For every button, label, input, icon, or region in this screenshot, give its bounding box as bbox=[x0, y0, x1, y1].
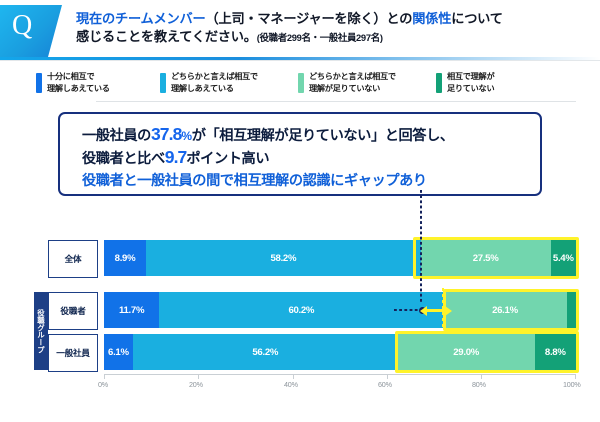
bar-row-staff: 6.1% 56.2% 29.0% 8.8% bbox=[104, 334, 576, 370]
bar-segment-managers-2: 26.1% bbox=[443, 292, 566, 328]
bar-row-overall: 8.9% 58.2% 27.5% 5.4% bbox=[104, 240, 576, 276]
x-axis-line bbox=[104, 374, 576, 375]
x-tick-40 bbox=[293, 374, 294, 379]
x-tick-label-100: 100% bbox=[563, 380, 581, 389]
row-label-staff: 一般社員 bbox=[48, 334, 98, 372]
bar-segment-staff-2: 29.0% bbox=[398, 334, 535, 370]
x-tick-100 bbox=[575, 374, 576, 379]
row-label-overall: 全体 bbox=[48, 240, 98, 278]
annotation-gap-arrow-left-icon bbox=[420, 306, 427, 316]
bar-segment-overall-3: 5.4% bbox=[551, 240, 576, 276]
bar-segment-staff-0: 6.1% bbox=[104, 334, 133, 370]
x-tick-60 bbox=[387, 374, 388, 379]
x-tick-label-60: 60% bbox=[378, 380, 392, 389]
bar-segment-staff-1: 56.2% bbox=[133, 334, 398, 370]
bar-row-managers: 11.7% 60.2% 26.1% bbox=[104, 292, 576, 328]
bar-segment-staff-3: 8.8% bbox=[535, 334, 577, 370]
annotation-guide-vertical bbox=[420, 190, 422, 302]
bar-segment-managers-0: 11.7% bbox=[104, 292, 159, 328]
bar-segment-overall-1: 58.2% bbox=[146, 240, 421, 276]
infographic-page: Q 現在のチームメンバー（上司・マネージャーを除く）との関係性について 感じるこ… bbox=[0, 0, 600, 422]
group-band-label: 役職グループ bbox=[34, 292, 48, 370]
x-tick-0 bbox=[104, 374, 105, 379]
annotation-gap-arrow-right-icon bbox=[445, 306, 452, 316]
annotation-gap-arrow-bar bbox=[425, 309, 447, 312]
bar-segment-overall-2: 27.5% bbox=[421, 240, 551, 276]
x-tick-label-80: 80% bbox=[472, 380, 486, 389]
x-tick-80 bbox=[481, 374, 482, 379]
annotation-gap-marker bbox=[442, 288, 444, 328]
bar-segment-overall-0: 8.9% bbox=[104, 240, 146, 276]
stacked-bar-chart: 全体 役職グループ 役職者 一般社員 8.9% 58.2% 27.5% 5.4%… bbox=[0, 0, 600, 422]
bar-segment-managers-3 bbox=[567, 292, 576, 328]
x-tick-20 bbox=[198, 374, 199, 379]
footer: TEAM BUILDING WITH TeamSpirit bbox=[0, 396, 600, 422]
x-tick-label-20: 20% bbox=[189, 380, 203, 389]
x-tick-label-40: 40% bbox=[284, 380, 298, 389]
group-band: 役職グループ bbox=[34, 292, 48, 370]
x-tick-label-0: 0% bbox=[98, 380, 108, 389]
row-label-managers: 役職者 bbox=[48, 292, 98, 330]
